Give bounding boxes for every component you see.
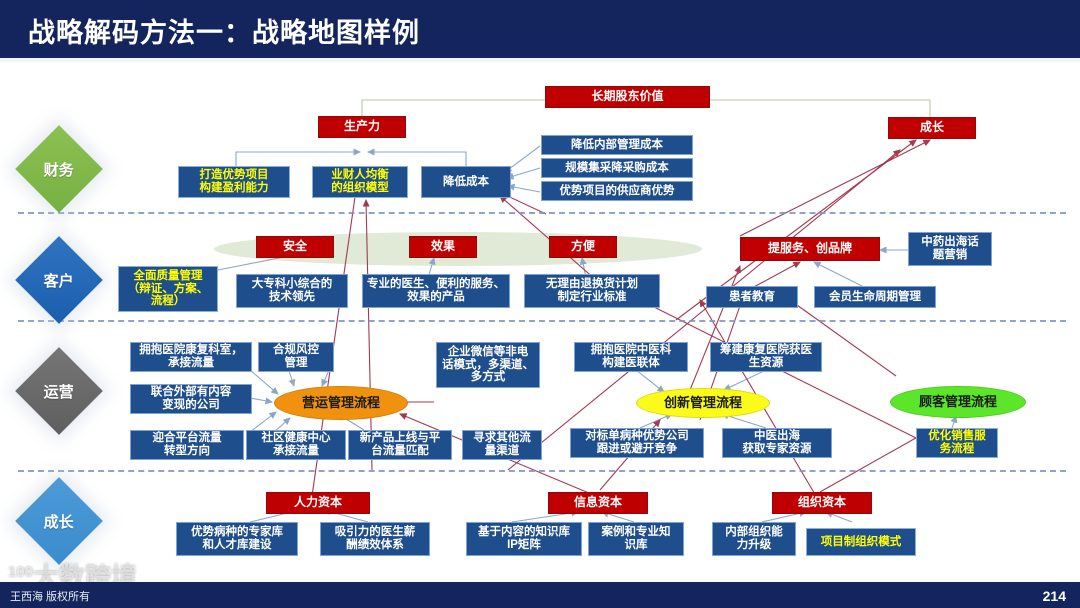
perspective-finance-label: 财务 (44, 158, 74, 179)
node-reduce-internal-management-cost[interactable]: 降低内部管理成本 (541, 135, 693, 155)
node-operations-management-process[interactable]: 营运管理流程 (274, 386, 408, 420)
copyright-text: 王西海 版权所有 (10, 588, 90, 604)
node-balanced-org-model[interactable]: 业财人均衡 的组织模型 (312, 166, 408, 198)
perspective-growth-label: 成长 (44, 510, 74, 531)
node-effectiveness[interactable]: 效果 (409, 236, 477, 258)
node-expert-talent-pool[interactable]: 优势病种的专家库 和人才库建设 (176, 522, 298, 556)
node-patient-education[interactable]: 患者教育 (706, 286, 798, 308)
node-embrace-hospital-rehab-dept[interactable]: 拥抱医院康复科室， 承接流量 (130, 342, 252, 372)
node-no-reason-return-policy[interactable]: 无理由退换货计划 制定行业标准 (524, 274, 660, 308)
node-platform-traffic-transformation[interactable]: 迎合平台流量 转型方向 (130, 430, 244, 460)
node-scale-procurement-cost[interactable]: 规模集采降采购成本 (541, 158, 693, 178)
node-safety[interactable]: 安全 (256, 236, 334, 258)
node-information-capital[interactable]: 信息资本 (548, 492, 648, 514)
node-new-product-traffic-match[interactable]: 新产品上线与平 台流量匹配 (348, 430, 452, 460)
node-wechat-multichannel[interactable]: 企业微信等非电 话模式，多渠道、 多方式 (436, 342, 540, 388)
node-tcm-expert-resources[interactable]: 中医出海 获取专家资源 (722, 428, 832, 458)
slide-footer: 王西海 版权所有 214 (0, 582, 1080, 608)
node-customer-management-process[interactable]: 顾客管理流程 (890, 386, 1026, 418)
node-human-capital[interactable]: 人力资本 (266, 492, 370, 514)
perspective-customer-label: 客户 (44, 269, 74, 290)
slide-canvas: 战略解码方法一：战略地图样例 (0, 0, 1080, 608)
node-improve-service-build-brand[interactable]: 提服务、创品牌 (740, 237, 880, 261)
node-innovation-management-process[interactable]: 创新管理流程 (636, 388, 770, 418)
node-benchmark-single-disease[interactable]: 对标单病种优势公司 跟进或避开竞争 (570, 428, 704, 458)
node-project-based-org-model[interactable]: 项目制组织模式 (806, 528, 916, 556)
node-total-quality-management[interactable]: 全面质量管理 （辩证、方案、 流程） (118, 266, 218, 312)
node-content-knowledge-ip-matrix[interactable]: 基于内容的知识库 IP矩阵 (466, 522, 582, 556)
node-case-professional-knowledge-base[interactable]: 案例和专业知 识库 (588, 522, 684, 556)
perspective-operations-label: 运营 (44, 380, 74, 401)
divider-finance-customer (18, 212, 1066, 214)
node-organization-capital[interactable]: 组织资本 (772, 492, 872, 514)
page-number: 214 (1043, 588, 1066, 604)
node-compliance-risk-control[interactable]: 合规风控 管理 (258, 342, 334, 372)
node-supplier-advantage[interactable]: 优势项目的供应商优势 (541, 181, 693, 201)
node-attractive-doctor-compensation[interactable]: 吸引力的医生薪 酬绩效体系 (320, 522, 430, 556)
node-community-health-center[interactable]: 社区健康中心 承接流量 (246, 430, 346, 460)
divider-operations-growth (18, 470, 1066, 472)
node-internal-org-capability-upgrade[interactable]: 内部组织能 力升级 (712, 522, 796, 556)
node-optimize-sales-service-process[interactable]: 优化销售服 务流程 (916, 428, 998, 458)
node-convenience[interactable]: 方便 (549, 236, 617, 258)
node-professional-doctors-products[interactable]: 专业的医生、便利的服务、 效果的产品 (362, 274, 510, 308)
node-tcm-medical-alliance[interactable]: 拥抱医院中医科 构建医联体 (574, 342, 688, 372)
node-partner-content-monetization[interactable]: 联合外部有内容 变现的公司 (130, 384, 252, 414)
node-reduce-cost[interactable]: 降低成本 (421, 166, 511, 198)
node-productivity[interactable]: 生产力 (318, 116, 406, 138)
node-seek-other-traffic-channels[interactable]: 寻求其他流 量渠道 (462, 430, 542, 460)
node-build-advantage-projects[interactable]: 打造优势项目 构建盈利能力 (178, 166, 290, 198)
node-growth-driver[interactable]: 成长 (888, 117, 976, 139)
divider-customer-operations (18, 320, 1066, 322)
node-tcm-overseas-marketing[interactable]: 中药出海话 题营销 (908, 232, 992, 266)
node-build-rehab-hospital[interactable]: 筹建康复医院获医 生资源 (710, 342, 822, 372)
node-long-term-shareholder-value[interactable]: 长期股东价值 (545, 86, 710, 108)
node-specialty-tech-leading[interactable]: 大专科小综合的 技术领先 (236, 274, 348, 308)
node-member-lifecycle-management[interactable]: 会员生命周期管理 (814, 286, 936, 308)
